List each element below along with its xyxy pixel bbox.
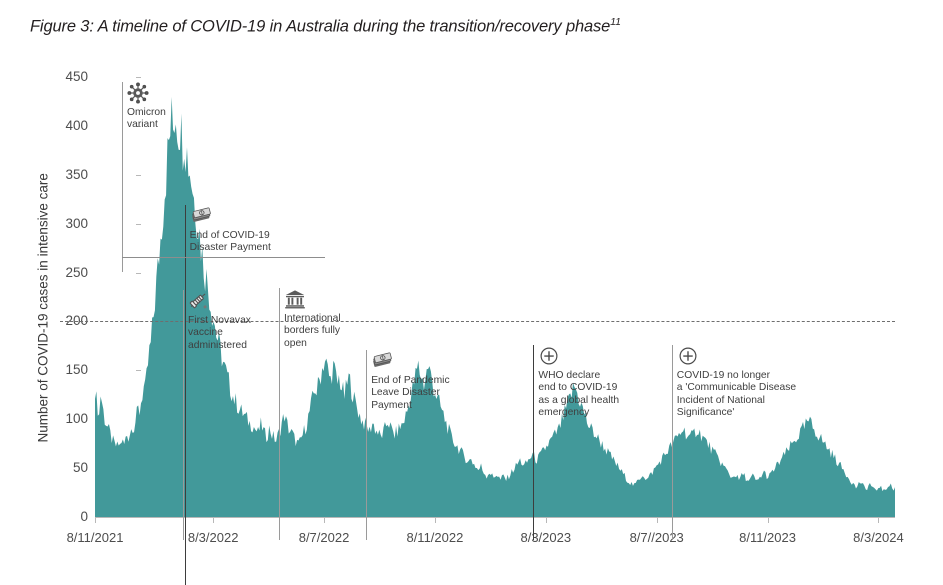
bank-building-icon (284, 288, 306, 310)
x-tick-label: 8/3/2023 (491, 530, 601, 545)
x-tick-mark (546, 517, 547, 523)
annotation-body: End of COVID-19 Disaster Payment (190, 205, 320, 255)
cash-stack-icon (190, 205, 212, 227)
x-tick-label: 8/11/2023 (713, 530, 823, 545)
x-tick-label: 8/11/2022 (380, 530, 490, 545)
annotation-label: WHO declare end to COVID-19 as a global … (538, 370, 668, 420)
annotation-label: End of Pandemic Leave Disaster Payment (371, 375, 501, 412)
x-tick-label: 8/11/2021 (40, 530, 150, 545)
x-tick-label: 8/3/2022 (158, 530, 268, 545)
annotation-body: WHO declare end to COVID-19 as a global … (538, 345, 668, 420)
y-tick-label: 50 (46, 461, 88, 475)
x-tick-label: 8/3/2024 (823, 530, 933, 545)
medical-cross-circle-icon (677, 345, 699, 367)
y-tick-label: 250 (46, 266, 88, 280)
y-tick-label: 300 (46, 217, 88, 231)
y-tick-label: 150 (46, 363, 88, 377)
annotation-label: COVID-19 no longer a 'Communicable Disea… (677, 370, 827, 420)
y-tick-label: 0 (46, 510, 88, 524)
annotation-rule (122, 82, 123, 272)
y-tick-label: 450 (46, 70, 88, 84)
annotation-body: International borders fully open (284, 288, 414, 350)
annotation-body: COVID-19 no longer a 'Communicable Disea… (677, 345, 807, 420)
x-tick-label: 8/7/2022 (269, 530, 379, 545)
annotation-body: End of Pandemic Leave Disaster Payment (371, 350, 501, 412)
annotation-label: End of COVID-19 Disaster Payment (190, 230, 320, 255)
x-tick-mark (435, 517, 436, 523)
medical-cross-circle-icon (538, 345, 560, 367)
chart-container: Number of COVID-19 cases in intensive ca… (0, 60, 943, 574)
y-tick-label: 100 (46, 412, 88, 426)
figure-caption-text: Figure 3: A timeline of COVID-19 in Aust… (30, 18, 610, 36)
x-tick-mark (324, 517, 325, 523)
figure-caption: Figure 3: A timeline of COVID-19 in Aust… (30, 16, 910, 37)
syringe-icon (188, 290, 210, 312)
annotation-rule (533, 345, 534, 540)
x-tick-mark (768, 517, 769, 523)
annotation-label: Omicron variant (127, 107, 257, 132)
annotation-label: International borders fully open (284, 313, 414, 350)
payment-connector-line (122, 257, 325, 258)
cash-stack-icon (371, 350, 393, 372)
y-tick-label: 350 (46, 168, 88, 182)
annotation-rule (672, 345, 673, 540)
x-tick-mark (95, 517, 96, 523)
y-tick-label: 400 (46, 119, 88, 133)
y-axis-ticks: 050100150200250300350400450 (46, 60, 88, 574)
annotation-body: Omicron variant (127, 82, 257, 132)
x-tick-mark (878, 517, 879, 523)
x-tick-mark (657, 517, 658, 523)
x-tick-mark (213, 517, 214, 523)
x-tick-label: 8/7//2023 (602, 530, 712, 545)
figure-footnote-marker: 11 (610, 16, 621, 28)
x-axis-line (95, 517, 895, 518)
annotation-rule (279, 288, 280, 540)
annotation-rule (183, 290, 184, 540)
annotation-rule (366, 350, 367, 540)
annotation-rule (185, 205, 186, 585)
virus-icon (127, 82, 149, 104)
